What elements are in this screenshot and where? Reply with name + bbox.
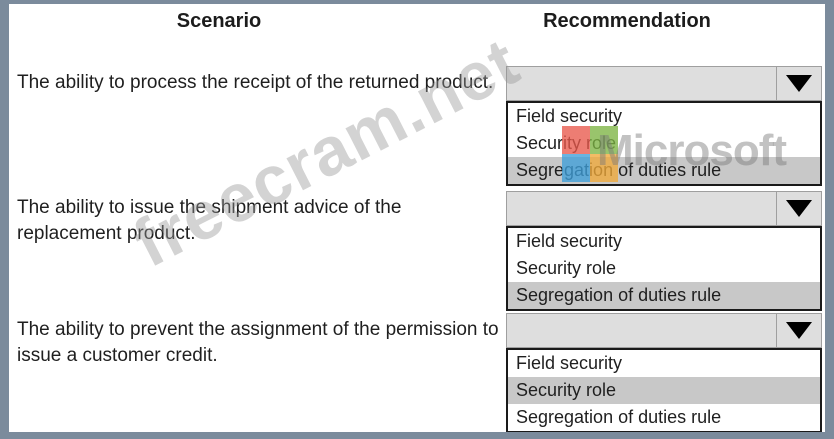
column-header-scenario: Scenario (9, 10, 429, 33)
dropdown-option-field-security[interactable]: Field security (508, 103, 820, 130)
column-header-recommendation: Recommendation (429, 10, 825, 33)
dropdown-option-security-role[interactable]: Security role (508, 130, 820, 157)
chevron-down-icon[interactable] (776, 314, 821, 347)
question-screenshot: Scenario Recommendation The ability to p… (0, 0, 834, 439)
dropdown-option-segregation-of-duties-rule[interactable]: Segregation of duties rule (508, 404, 820, 431)
chevron-down-icon[interactable] (776, 67, 821, 100)
dropdown-option-field-security[interactable]: Field security (508, 228, 820, 255)
dropdown-control[interactable] (506, 191, 822, 226)
dropdown-option-list[interactable]: Field security Security role Segregation… (506, 348, 822, 433)
dropdown-control[interactable] (506, 66, 822, 101)
chevron-down-icon[interactable] (776, 192, 821, 225)
chevron-down-glyph (786, 75, 812, 92)
recommendation-dropdown-3[interactable]: Field security Security role Segregation… (506, 313, 822, 433)
table-header: Scenario Recommendation (9, 10, 825, 48)
chevron-down-glyph (786, 322, 812, 339)
scenario-text: The ability to issue the shipment advice… (17, 195, 503, 247)
dropdown-option-security-role[interactable]: Security role (508, 255, 820, 282)
recommendation-dropdown-2[interactable]: Field security Security role Segregation… (506, 191, 822, 311)
dropdown-option-segregation-of-duties-rule[interactable]: Segregation of duties rule (508, 157, 820, 184)
dropdown-control[interactable] (506, 313, 822, 348)
chevron-down-glyph (786, 200, 812, 217)
scenario-text: The ability to prevent the assignment of… (17, 317, 503, 369)
dropdown-option-security-role[interactable]: Security role (508, 377, 820, 404)
dropdown-option-list[interactable]: Field security Security role Segregation… (506, 101, 822, 186)
recommendation-dropdown-1[interactable]: Field security Security role Segregation… (506, 66, 822, 186)
dropdown-option-list[interactable]: Field security Security role Segregation… (506, 226, 822, 311)
dropdown-option-segregation-of-duties-rule[interactable]: Segregation of duties rule (508, 282, 820, 309)
dropdown-option-field-security[interactable]: Field security (508, 350, 820, 377)
scenario-text: The ability to process the receipt of th… (17, 70, 503, 96)
